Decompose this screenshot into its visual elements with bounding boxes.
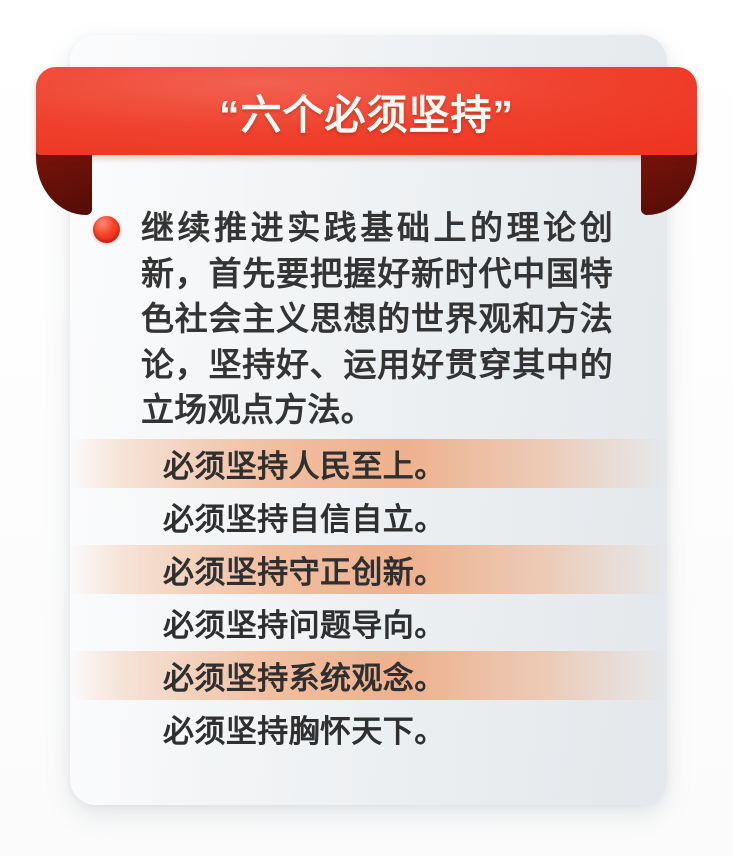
points-list: 必须坚持人民至上。 必须坚持自信自立。 必须坚持守正创新。 必须坚持问题导向。 …	[70, 437, 667, 755]
ribbon-fold-left-icon	[36, 147, 92, 215]
poster-stage: “六个必须坚持” 继续推进实践基础上的理论创新，首先要把握好新时代中国特色社会主…	[0, 0, 733, 856]
list-item-label: 必须坚持胸怀天下。	[163, 706, 446, 751]
red-dot-icon	[93, 216, 120, 243]
list-item-label: 必须坚持守正创新。	[163, 547, 446, 592]
list-item-label: 必须坚持系统观念。	[163, 653, 446, 698]
list-item-label: 必须坚持人民至上。	[163, 441, 446, 486]
list-item: 必须坚持系统观念。	[70, 649, 667, 702]
list-item-label: 必须坚持问题导向。	[163, 600, 446, 645]
ribbon-banner: “六个必须坚持”	[36, 67, 697, 155]
lead-paragraph-text: 继续推进实践基础上的理论创新，首先要把握好新时代中国特色社会主义思想的世界观和方…	[141, 205, 613, 433]
list-item: 必须坚持守正创新。	[70, 543, 667, 596]
lead-paragraph: 继续推进实践基础上的理论创新，首先要把握好新时代中国特色社会主义思想的世界观和方…	[93, 205, 613, 433]
list-item: 必须坚持问题导向。	[70, 596, 667, 649]
title-ribbon: “六个必须坚持”	[0, 55, 733, 205]
ribbon-fold-right-icon	[641, 147, 697, 215]
list-item: 必须坚持人民至上。	[70, 437, 667, 490]
list-item: 必须坚持自信自立。	[70, 490, 667, 543]
list-item: 必须坚持胸怀天下。	[70, 702, 667, 755]
page-title: “六个必须坚持”	[36, 67, 697, 155]
list-item-label: 必须坚持自信自立。	[163, 494, 446, 539]
